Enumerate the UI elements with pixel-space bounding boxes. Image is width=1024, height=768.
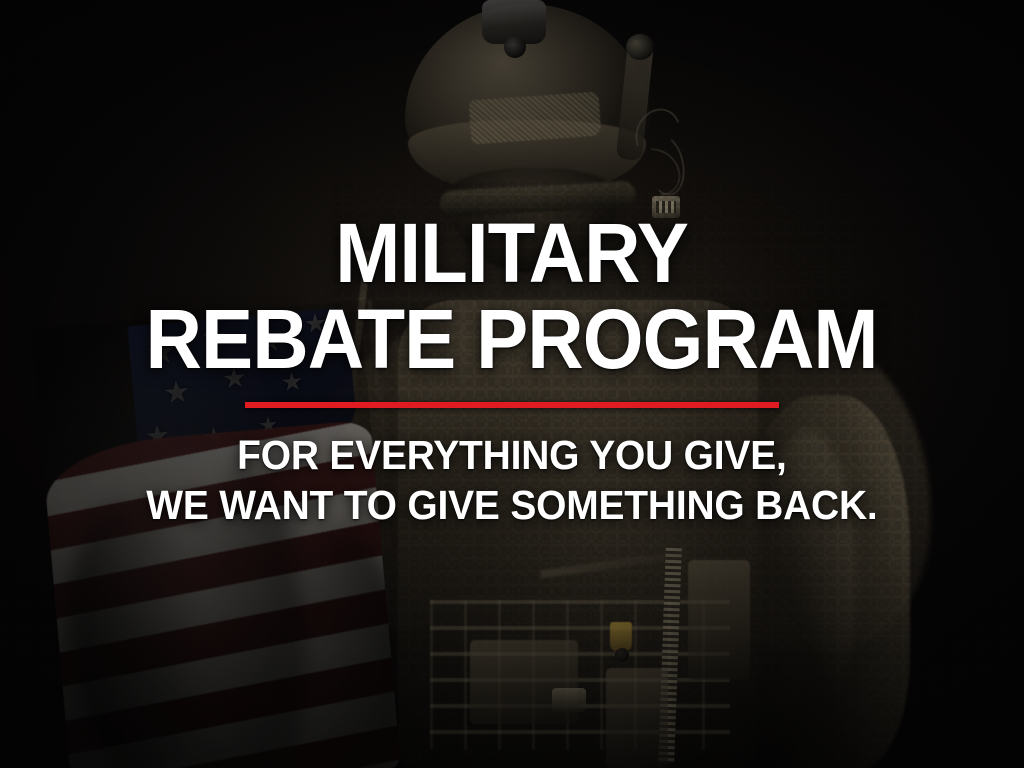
page-title: MILITARY REBATE PROGRAM [146, 214, 878, 380]
tagline: FOR EVERYTHING YOU GIVE, WE WANT TO GIVE… [146, 430, 877, 530]
military-rebate-banner: ★ ★ ★ ★ ★ ★ ★ ★ ★ ★ MILITARY REBATE PROG… [0, 0, 1024, 768]
headline-line-1: MILITARY [336, 206, 689, 300]
red-divider [245, 402, 779, 408]
text-overlay: MILITARY REBATE PROGRAM FOR EVERYTHING Y… [0, 0, 1024, 768]
tagline-line-2: WE WANT TO GIVE SOMETHING BACK. [146, 480, 877, 530]
tagline-line-1: FOR EVERYTHING YOU GIVE, [146, 430, 877, 480]
headline-line-2: REBATE PROGRAM [146, 300, 878, 380]
